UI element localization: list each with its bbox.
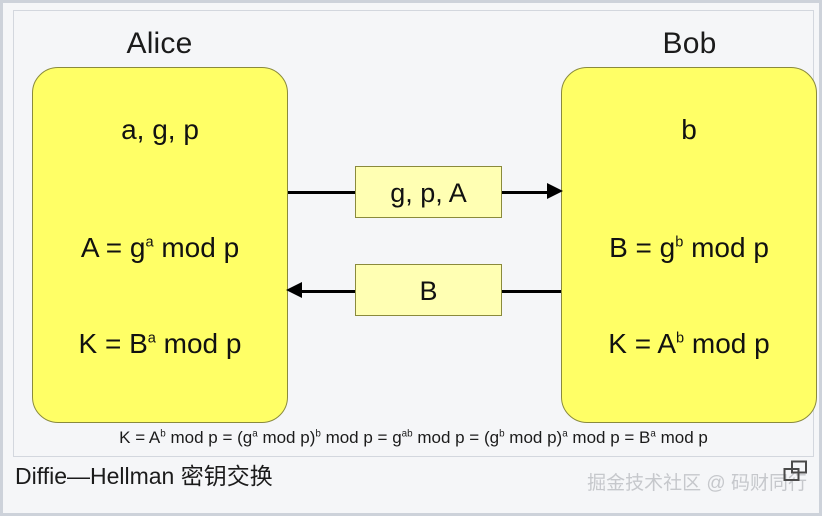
identity-segment-2: mod p = (g	[166, 428, 252, 447]
bob-key-line: K = Ab mod p	[562, 330, 816, 358]
connector-alice-to-message-1	[288, 191, 355, 194]
bob-key-suffix: mod p	[684, 328, 770, 359]
window-overlap-icon	[783, 460, 813, 486]
figure-caption: Diffie—Hellman 密钥交换	[15, 465, 273, 488]
message-to-bob-label: g, p, A	[356, 180, 501, 207]
alice-key-suffix: mod p	[156, 328, 242, 359]
identity-segment-7: mod p = B	[568, 428, 651, 447]
bob-secret-text: b	[681, 114, 697, 145]
identity-exponent-4: ab	[402, 428, 413, 439]
diagram-panel: Alice a, g, p A = ga mod p K = Ba mod p …	[13, 10, 814, 457]
bob-key-prefix: K = A	[608, 328, 676, 359]
bob-secret-line: b	[562, 116, 816, 144]
diffie-hellman-figure: Alice a, g, p A = ga mod p K = Ba mod p …	[0, 0, 822, 516]
bob-public-line: B = gb mod p	[562, 234, 816, 262]
connector-message-2-to-alice	[302, 290, 355, 293]
identity-segment-3: mod p)	[258, 428, 316, 447]
bob-box: b B = gb mod p K = Ab mod p	[561, 67, 817, 423]
alice-key-exponent: a	[148, 331, 156, 347]
alice-title: Alice	[32, 29, 287, 59]
message-to-alice-label: B	[356, 278, 501, 305]
alice-public-exponent: a	[145, 235, 153, 251]
alice-key-prefix: K = B	[79, 328, 148, 359]
shared-key-identity-formula: K = Ab mod p = (ga mod p)b mod p = gab m…	[14, 429, 813, 446]
alice-box: a, g, p A = ga mod p K = Ba mod p	[32, 67, 288, 423]
connector-bob-to-message-2	[502, 290, 561, 293]
alice-public-suffix: mod p	[154, 232, 240, 263]
alice-public-prefix: A = g	[81, 232, 146, 263]
identity-segment-5: mod p = (g	[413, 428, 499, 447]
message-box-to-alice: B	[355, 264, 502, 316]
connector-message-1-to-bob	[502, 191, 547, 194]
arrowhead-right-icon	[547, 183, 563, 199]
alice-secret-line: a, g, p	[33, 116, 287, 144]
bob-key-exponent: b	[676, 331, 684, 347]
bob-title: Bob	[562, 29, 817, 59]
alice-key-line: K = Ba mod p	[33, 330, 287, 358]
identity-segment-8: mod p	[656, 428, 708, 447]
identity-segment-1: K = A	[119, 428, 160, 447]
alice-secret-text: a, g, p	[121, 114, 199, 145]
alice-public-line: A = ga mod p	[33, 234, 287, 262]
bob-public-suffix: mod p	[683, 232, 769, 263]
watermark-text: 掘金技术社区 @ 码财同行	[587, 474, 807, 493]
identity-segment-4: mod p = g	[321, 428, 402, 447]
bob-public-prefix: B = g	[609, 232, 675, 263]
arrowhead-left-icon	[286, 282, 302, 298]
message-box-to-bob: g, p, A	[355, 166, 502, 218]
identity-segment-6: mod p)	[505, 428, 563, 447]
